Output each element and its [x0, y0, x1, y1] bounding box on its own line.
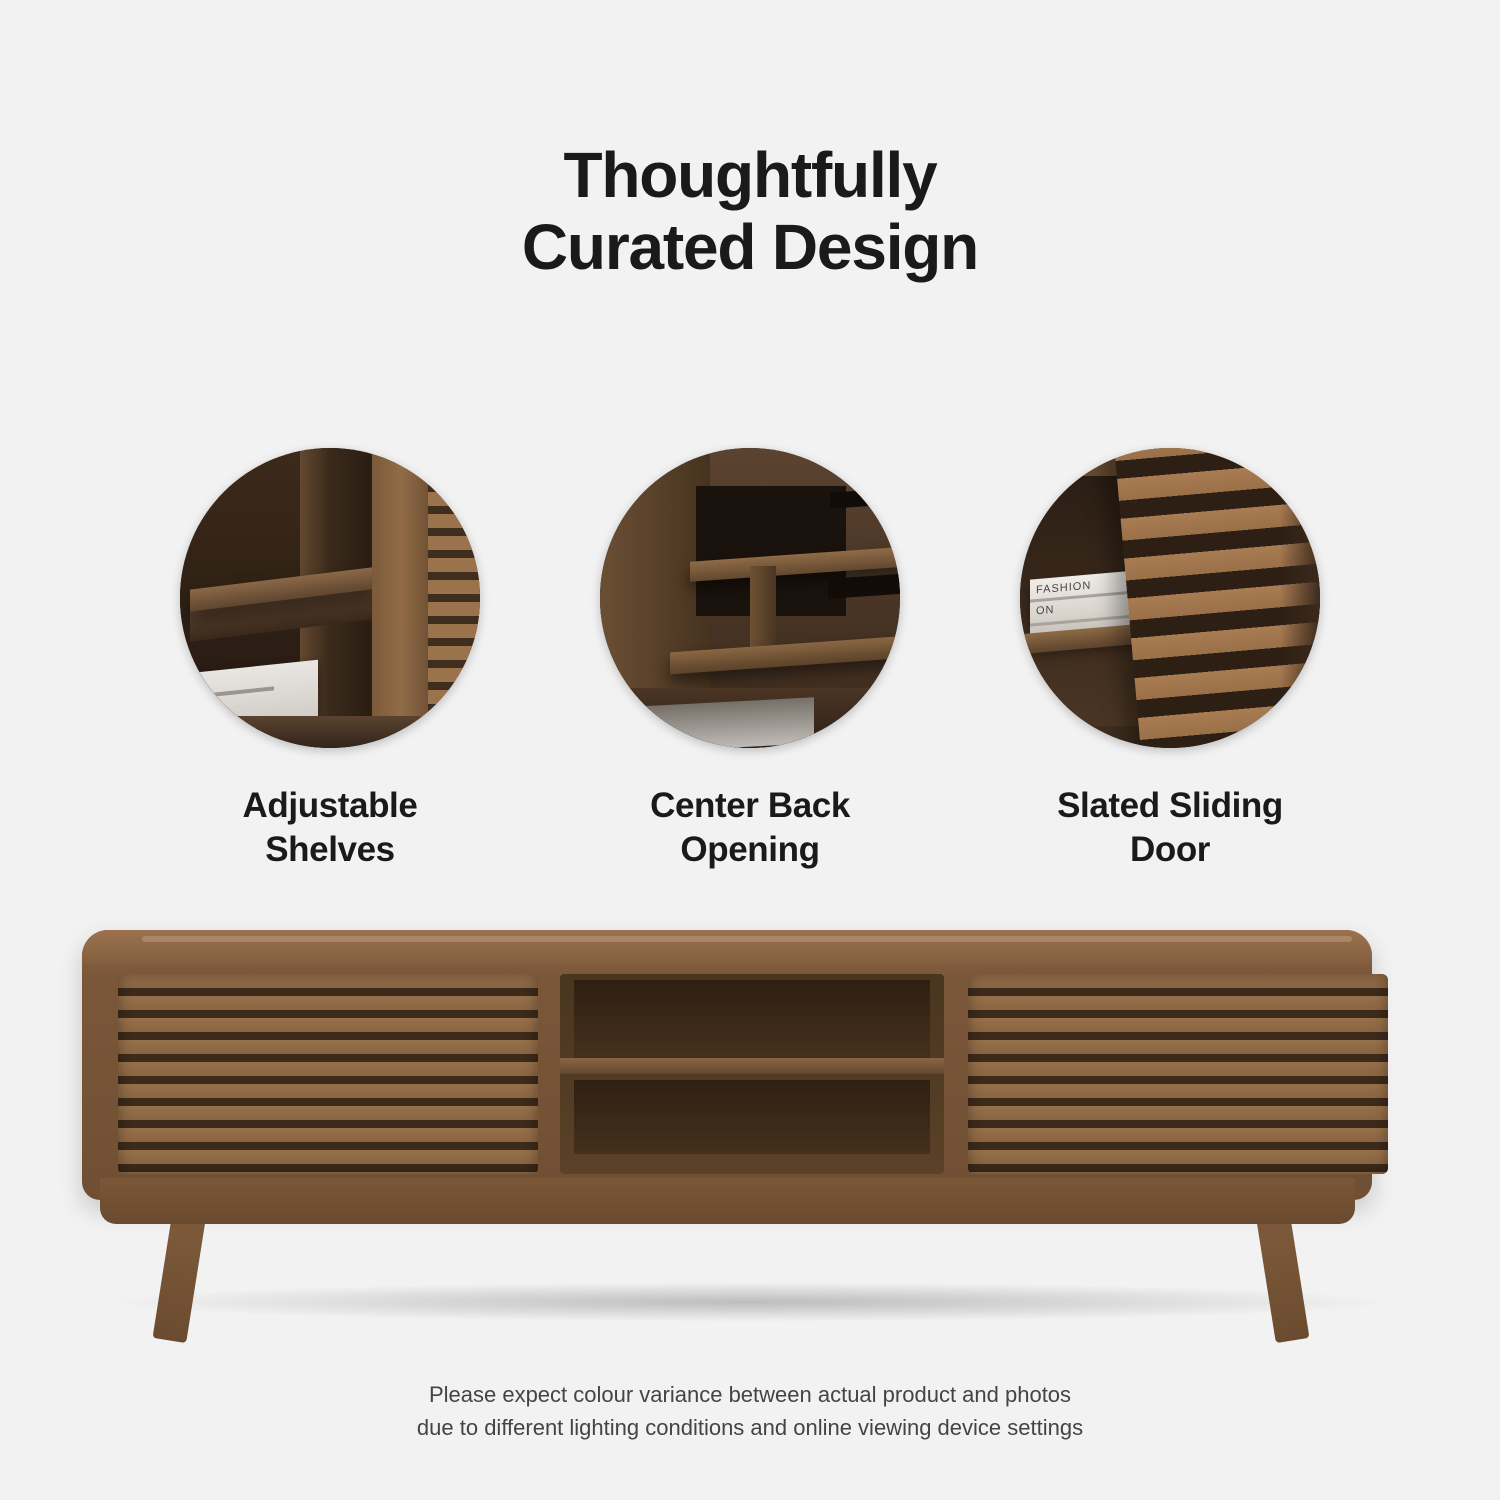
feature-slated-sliding-door: FASHION ON Slated Sliding Door — [1015, 448, 1325, 872]
feature-caption-adjustable-shelves: Adjustable Shelves — [175, 784, 485, 872]
product-base-apron — [100, 1178, 1355, 1224]
center-photo-floor-reflection — [634, 697, 814, 748]
feature-caption-line-2: Shelves — [265, 830, 395, 869]
product-top-surface — [82, 930, 1372, 964]
feature-image-center-back-opening — [600, 448, 900, 748]
feature-caption-slated-sliding-door: Slated Sliding Door — [1015, 784, 1325, 872]
feature-caption-line-2: Door — [1130, 830, 1210, 869]
feature-adjustable-shelves: Adjustable Shelves — [175, 448, 485, 872]
product-center-lower-opening — [574, 1080, 930, 1154]
feature-center-back-opening: Center Back Opening — [595, 448, 905, 872]
product-leg-left — [152, 1213, 205, 1343]
feature-list: Adjustable Shelves Center Back Opening — [0, 448, 1500, 872]
disclaimer-text: Please expect colour variance between ac… — [0, 1378, 1500, 1444]
product-sliding-door-left — [118, 974, 538, 1174]
shelf-photo-slats — [428, 448, 480, 748]
magazine-label: FASHION ON — [1036, 576, 1091, 623]
product-photo — [60, 930, 1440, 1350]
product-top-highlight — [142, 936, 1352, 942]
shelf-photo-divider-panel — [372, 448, 430, 748]
disclaimer-line-1: Please expect colour variance between ac… — [0, 1378, 1500, 1411]
feature-caption-line-1: Adjustable — [243, 786, 418, 825]
feature-image-slated-sliding-door: FASHION ON — [1020, 448, 1320, 748]
door-photo-edge-shade — [1280, 448, 1320, 748]
feature-caption-center-back-opening: Center Back Opening — [595, 784, 905, 872]
product-leg-right — [1256, 1213, 1309, 1343]
product-center-upper-opening — [574, 980, 930, 1058]
marketing-image: Thoughtfully Curated Design Adjustable S… — [0, 0, 1500, 1500]
product-center-shelf — [560, 1058, 944, 1074]
page-title-line-1: Thoughtfully — [0, 140, 1500, 212]
shelf-photo-floor — [180, 716, 480, 748]
feature-caption-line-1: Slated Sliding — [1057, 786, 1283, 825]
feature-caption-line-1: Center Back — [650, 786, 850, 825]
product-shadow — [100, 1282, 1400, 1322]
feature-image-adjustable-shelves — [180, 448, 480, 748]
product-sliding-door-right — [968, 974, 1388, 1174]
page-title-line-2: Curated Design — [0, 212, 1500, 284]
disclaimer-line-2: due to different lighting conditions and… — [0, 1411, 1500, 1444]
feature-caption-line-2: Opening — [680, 830, 819, 869]
page-title: Thoughtfully Curated Design — [0, 140, 1500, 283]
